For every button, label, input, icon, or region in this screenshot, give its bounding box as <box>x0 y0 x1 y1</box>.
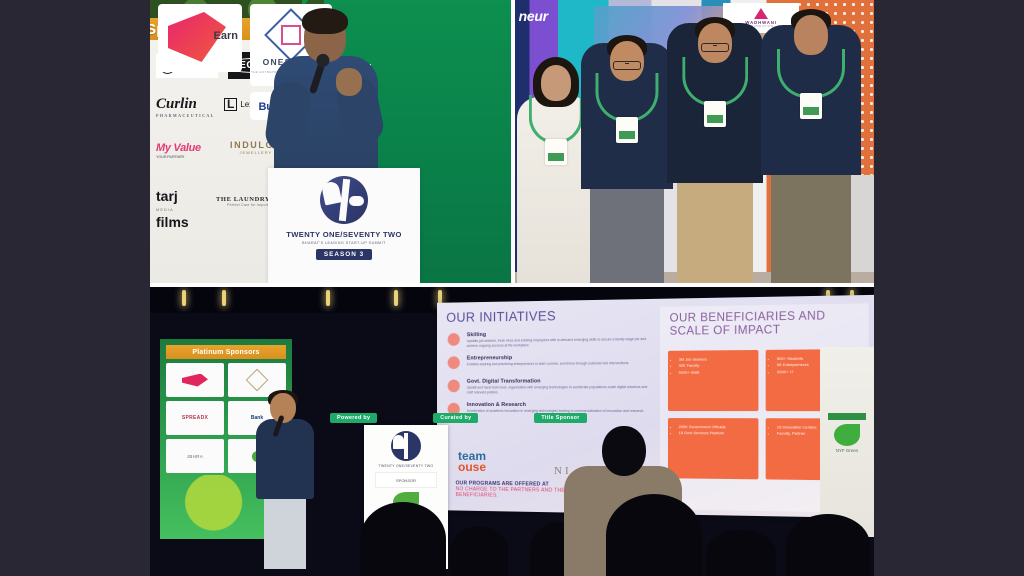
photo-keynote-speaker: Sponsors REGRIP DECIMAL Curlin PHARMACEU… <box>150 0 511 283</box>
logo-cut-3 <box>349 196 364 206</box>
man1-trousers <box>590 187 664 283</box>
magicbricks-icon <box>182 374 208 387</box>
govt-digital-icon <box>446 379 461 395</box>
man3-trousers <box>771 171 851 283</box>
audience-person-head <box>602 426 646 476</box>
initiative-body: Upskills job-seekers, fresh hires and ex… <box>467 337 649 348</box>
banner-sponsor-label: SPONSOR <box>396 478 416 483</box>
audience-silhouette <box>786 514 870 576</box>
stage-speaker-torso <box>256 419 314 499</box>
initiative-title: Innovation & Research <box>467 402 644 408</box>
banner-sponsor-chip: SPONSOR <box>375 472 437 488</box>
beneficiary-list: 200K Government Officials 15 Govt Servic… <box>673 424 753 437</box>
person-man-olive-trousers <box>761 9 861 283</box>
tag-curated-by: Curated by <box>433 413 478 423</box>
collage-row-bottom: OUR INITIATIVES Skilling Upskills job-se… <box>150 287 874 576</box>
audience-silhouette <box>706 530 776 576</box>
tag-title-sponsor: Title Sponsor <box>534 413 586 423</box>
beneficiary-box: 3M Job Seekers 32K Faculty 5000+ SMB <box>668 350 759 411</box>
initiative-text: Entrepreneurship Enables aspiring and pr… <box>467 354 630 371</box>
sponsor-logo-curlin-label: Curlin <box>156 96 197 112</box>
logo-team-house: team ouse <box>458 451 486 473</box>
podium-subtitle: BHARAT'S LEADING START-UP SUMMIT <box>302 241 386 245</box>
initiative-text: Govt. Digital Transformation Upskill and… <box>467 378 649 395</box>
stage-light-1 <box>182 290 186 306</box>
stage-speaker-figure <box>254 393 316 569</box>
sponsor-logo-tarj: tarjMEDIAfilms <box>156 190 189 229</box>
man3-badge <box>800 93 822 119</box>
sponsor-logo-curlin: Curlin PHARMACEUTICAL <box>156 96 215 118</box>
podium-title: TWENTY ONE/SEVENTY TWO <box>286 230 401 239</box>
stage-light-3 <box>326 290 330 306</box>
speaker-hair <box>302 8 348 34</box>
logo-cut-2 <box>404 433 408 459</box>
initiative-item: Entrepreneurship Enables aspiring and pr… <box>446 354 649 371</box>
audience-silhouette <box>606 494 702 576</box>
tarj-sub: MEDIA <box>156 203 189 216</box>
photo-stage-presentation: OUR INITIATIVES Skilling Upskills job-se… <box>150 287 874 576</box>
podium: TWENTY ONE/SEVENTY TWO BHARAT'S LEADING … <box>268 168 420 283</box>
right-panel-label: NYF Green <box>820 448 874 453</box>
summit-logo-icon <box>320 176 368 224</box>
summit-logo-icon <box>391 431 421 461</box>
sponsor-logo-curlin-sub: PHARMACEUTICAL <box>156 113 215 118</box>
initiative-text: Skilling Upskills job-seekers, fresh hir… <box>467 330 649 348</box>
stage-tag-row: Powered by Curated by Title Sponsor <box>330 413 750 423</box>
backdrop-word: neur <box>519 8 548 24</box>
man2-trousers <box>677 179 754 283</box>
man1-glasses-icon <box>613 61 641 70</box>
slide-footer-line-2: NO CHARGE TO THE PARTNERS AND THE BENEFI… <box>456 486 576 500</box>
collage-row-top: Sponsors REGRIP DECIMAL Curlin PHARMACEU… <box>150 0 874 283</box>
speaker-hand <box>336 68 362 96</box>
person-man-navy-polo <box>581 27 673 283</box>
spreadx-logo: SPREADX <box>182 415 208 421</box>
tag-powered-by: Powered by <box>330 413 377 423</box>
team-house-line2: ouse <box>458 462 486 473</box>
page-canvas: Sponsors REGRIP DECIMAL Curlin PHARMACEU… <box>0 0 1024 576</box>
man2-glasses-icon <box>701 43 729 52</box>
sponsor-card-earn: Earn <box>158 4 242 72</box>
stage-sponsors-label: Platinum Sponsors <box>192 349 259 356</box>
slide-heading-initiatives: OUR INITIATIVES <box>446 307 649 325</box>
audience-silhouette <box>360 502 446 576</box>
sponsor-logo-myvalue: My Value YOUR PARTNER <box>156 142 201 159</box>
myvalue-sub: YOUR PARTNER <box>156 154 201 159</box>
skilling-icon <box>446 332 461 348</box>
stage-logo-cell <box>166 363 224 397</box>
stage-light-4 <box>394 290 398 306</box>
jbhra-logo: JBHRA <box>187 454 203 459</box>
initiative-title: Govt. Digital Transformation <box>467 378 649 385</box>
man2-badge <box>704 101 726 127</box>
podium-season-badge: SEASON 3 <box>316 249 372 260</box>
diamond-logo-icon <box>246 369 269 392</box>
photo-group-of-four: neur WADHWANI FOUNDATION <box>515 0 874 283</box>
lexicon-mark: L <box>224 98 237 111</box>
sponsor-card-earn-label: Earn <box>214 30 238 42</box>
right-panel-tag <box>828 413 866 420</box>
person-man-navy-shirt <box>667 15 763 283</box>
beneficiary-list: 3M Job Seekers 32K Faculty 5000+ SMB <box>673 356 753 376</box>
woman-badge <box>545 139 567 165</box>
stage-sponsors-banner: Platinum Sponsors <box>166 345 286 359</box>
stage-light-2 <box>222 290 226 306</box>
right-sponsor-panel: NYF Green <box>820 347 874 537</box>
stage-speaker-legs <box>264 493 306 569</box>
man1-badge <box>616 117 638 143</box>
sponsor-logo-myvalue-label: My Value <box>156 142 201 154</box>
slide-heading-beneficiaries: OUR BENEFICIARIES AND SCALE OF IMPACT <box>660 303 869 339</box>
photo-collage: Sponsors REGRIP DECIMAL Curlin PHARMACEU… <box>150 0 874 576</box>
logo-cut-1 <box>393 435 404 449</box>
slide-footer: OUR PROGRAMS ARE OFFERED AT NO CHARGE TO… <box>456 481 576 500</box>
stage-logo-cell: JBHRA <box>166 439 224 473</box>
initiative-body: Enables aspiring and practicing entrepre… <box>467 361 630 367</box>
banner-title: TWENTY ONE/SEVENTY TWO <box>364 464 448 468</box>
beneficiary-item: 15 Govt Services Platform <box>679 431 753 438</box>
initiative-item: Govt. Digital Transformation Upskill and… <box>446 378 649 395</box>
entrepreneurship-icon <box>446 356 461 372</box>
man2-lanyard <box>682 57 748 106</box>
audience-silhouette <box>450 526 508 576</box>
stage-logo-cell: SPREADX <box>166 401 224 435</box>
initiative-item: Skilling Upskills job-seekers, fresh hir… <box>446 330 649 348</box>
initiative-body: Upskill and hand-hold Govt. organization… <box>467 385 649 395</box>
beneficiary-item: 5000+ SMB <box>679 369 753 376</box>
nyf-leaf-icon <box>834 424 860 446</box>
